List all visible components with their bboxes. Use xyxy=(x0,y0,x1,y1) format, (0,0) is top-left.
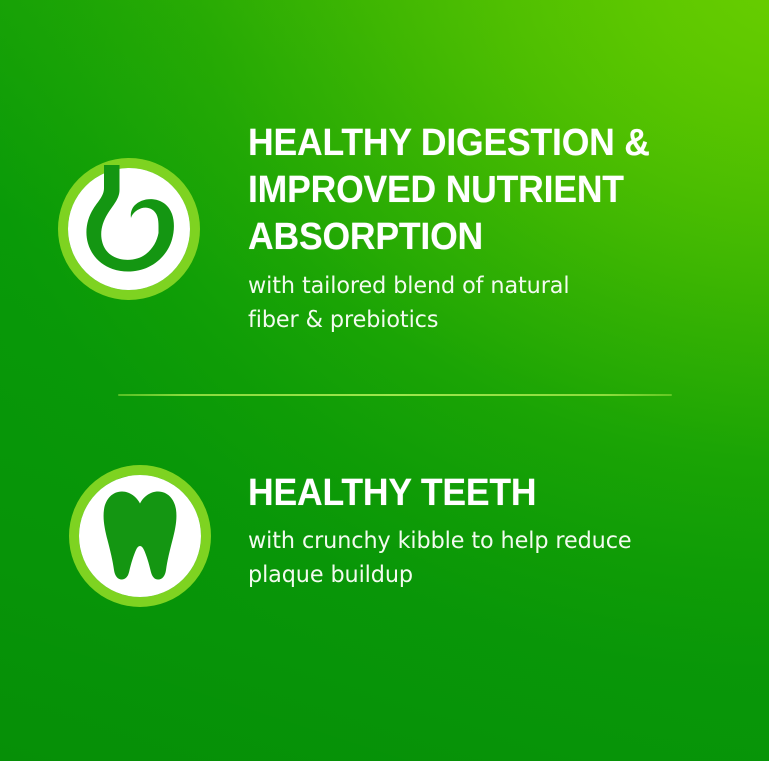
digestion-subtext: with tailored blend of natural fiber & p… xyxy=(248,269,665,337)
tooth-icon xyxy=(64,460,216,612)
teeth-text-column: HEALTHY TEETH with crunchy kibble to hel… xyxy=(248,470,643,592)
digestion-heading: HEALTHY DIGESTION & IMPROVED NUTRIENT AB… xyxy=(248,120,650,261)
stomach-icon xyxy=(53,153,205,305)
digestion-text-column: HEALTHY DIGESTION & IMPROVED NUTRIENT AB… xyxy=(248,120,678,337)
teeth-subtext: with crunchy kibble to help reduce plaqu… xyxy=(248,524,632,592)
poster-content: HEALTHY DIGESTION & IMPROVED NUTRIENT AB… xyxy=(0,0,769,761)
benefits-poster: HEALTHY DIGESTION & IMPROVED NUTRIENT AB… xyxy=(0,0,769,761)
section-divider xyxy=(118,394,672,396)
teeth-heading: HEALTHY TEETH xyxy=(248,470,618,517)
feature-healthy-teeth: HEALTHY TEETH with crunchy kibble to hel… xyxy=(0,470,643,612)
feature-healthy-digestion: HEALTHY DIGESTION & IMPROVED NUTRIENT AB… xyxy=(0,120,678,337)
